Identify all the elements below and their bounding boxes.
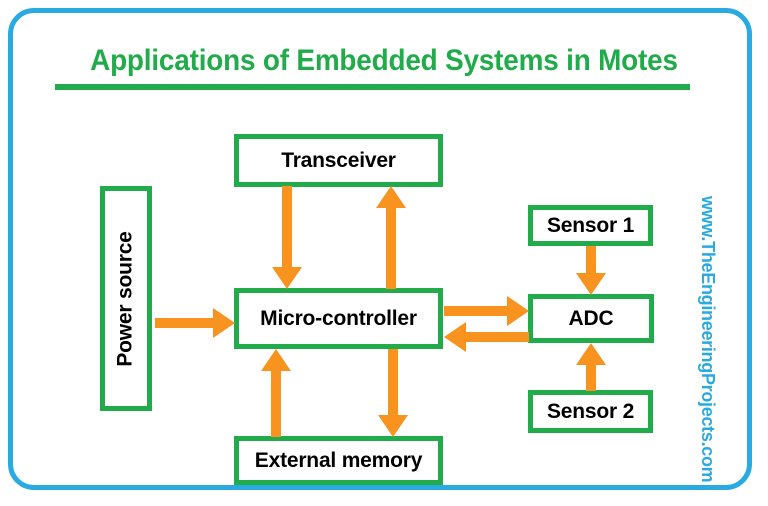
arrow-head (576, 343, 606, 365)
page-title: Applications of Embedded Systems in Mote… (0, 44, 768, 78)
diagram-canvas: Applications of Embedded Systems in Mote… (0, 0, 768, 506)
arrow-power-source-to-micro-controller (155, 308, 235, 338)
arrow-shaft (386, 207, 396, 289)
arrow-shaft (586, 364, 596, 391)
page-title-text: Applications of Embedded Systems in Mote… (90, 44, 678, 78)
arrow-head (261, 349, 291, 371)
node-external-memory: External memory (234, 436, 443, 485)
node-sensor-1: Sensor 1 (528, 205, 653, 246)
node-label-sensor-2: Sensor 2 (547, 400, 634, 424)
arrow-shaft (586, 246, 596, 274)
arrow-sensor-2-to-adc (576, 343, 606, 391)
arrow-sensor-1-to-adc (576, 246, 606, 295)
arrow-shaft (466, 332, 529, 342)
node-label-micro-controller: Micro-controller (260, 307, 417, 331)
watermark-text: www.TheEngineeringProjects.com (697, 196, 718, 482)
node-power-source: Power source (100, 186, 152, 411)
arrow-shaft (444, 306, 507, 316)
arrow-shaft (271, 370, 281, 437)
arrow-micro-controller-to-external-memory (378, 349, 408, 437)
arrow-head (272, 267, 302, 289)
watermark: www.TheEngineeringProjects.com (697, 196, 721, 476)
arrow-external-memory-to-micro-controller (261, 349, 291, 437)
node-micro-controller: Micro-controller (234, 288, 443, 349)
arrow-adc-to-micro-controller (444, 322, 529, 352)
node-label-transceiver: Transceiver (281, 149, 396, 173)
arrow-shaft (388, 349, 398, 416)
arrow-shaft (155, 318, 213, 328)
node-label-adc: ADC (569, 307, 614, 331)
node-adc: ADC (528, 294, 654, 343)
arrow-head (378, 415, 408, 437)
node-sensor-2: Sensor 2 (528, 390, 653, 433)
node-transceiver: Transceiver (234, 134, 443, 187)
node-label-sensor-1: Sensor 1 (547, 214, 634, 238)
node-label-external-memory: External memory (255, 449, 422, 473)
arrow-head (576, 273, 606, 295)
arrow-head (213, 308, 235, 338)
arrow-transceiver-to-micro-controller (272, 186, 302, 289)
node-label-power-source: Power source (114, 231, 138, 366)
title-underline (55, 84, 690, 90)
arrow-shaft (282, 186, 292, 268)
arrow-micro-controller-to-transceiver (376, 186, 406, 289)
arrow-head (376, 186, 406, 208)
arrow-head (444, 322, 466, 352)
